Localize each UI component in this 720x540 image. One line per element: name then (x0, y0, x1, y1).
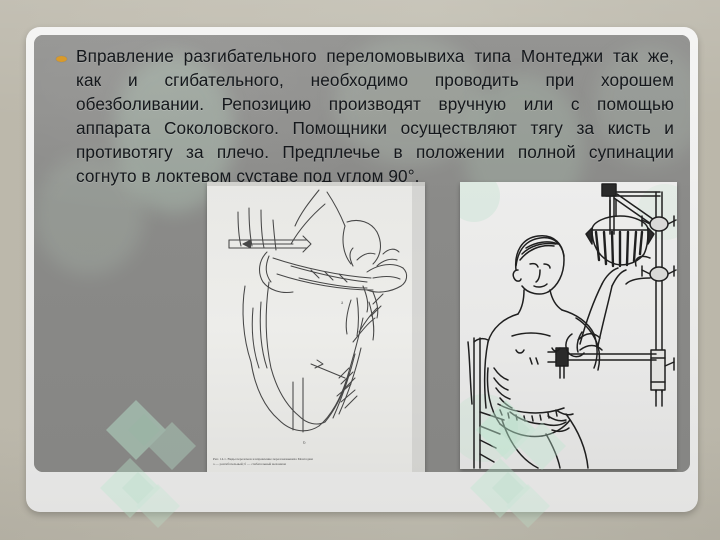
bullet-paragraph: Вправление разгибательного переломовывих… (56, 44, 674, 188)
figure-caption: Рис. 14.1. Виды переломов и вправление п… (213, 457, 421, 467)
slide-body-text: Вправление разгибательного переломовывих… (76, 44, 674, 188)
sokolovsky-apparatus-illustration (460, 182, 677, 469)
figure-montaggi-reduction[interactable]: б а Рис. 14.1. Виды переломов и вправлен… (207, 182, 425, 472)
figure-row: б а Рис. 14.1. Виды переломов и вправлен… (207, 182, 677, 472)
bullet-marker-icon (56, 56, 67, 62)
slide-content-panel: Вправление разгибательного переломовывих… (34, 35, 690, 472)
figure-caption-line-2: а — разгибательный; б — сгибательный мех… (213, 462, 421, 467)
slide-frame: Вправление разгибательного переломовывих… (26, 27, 698, 512)
montaggi-reduction-illustration: б а (207, 182, 425, 472)
figure-sokolovsky-apparatus[interactable] (460, 182, 677, 469)
